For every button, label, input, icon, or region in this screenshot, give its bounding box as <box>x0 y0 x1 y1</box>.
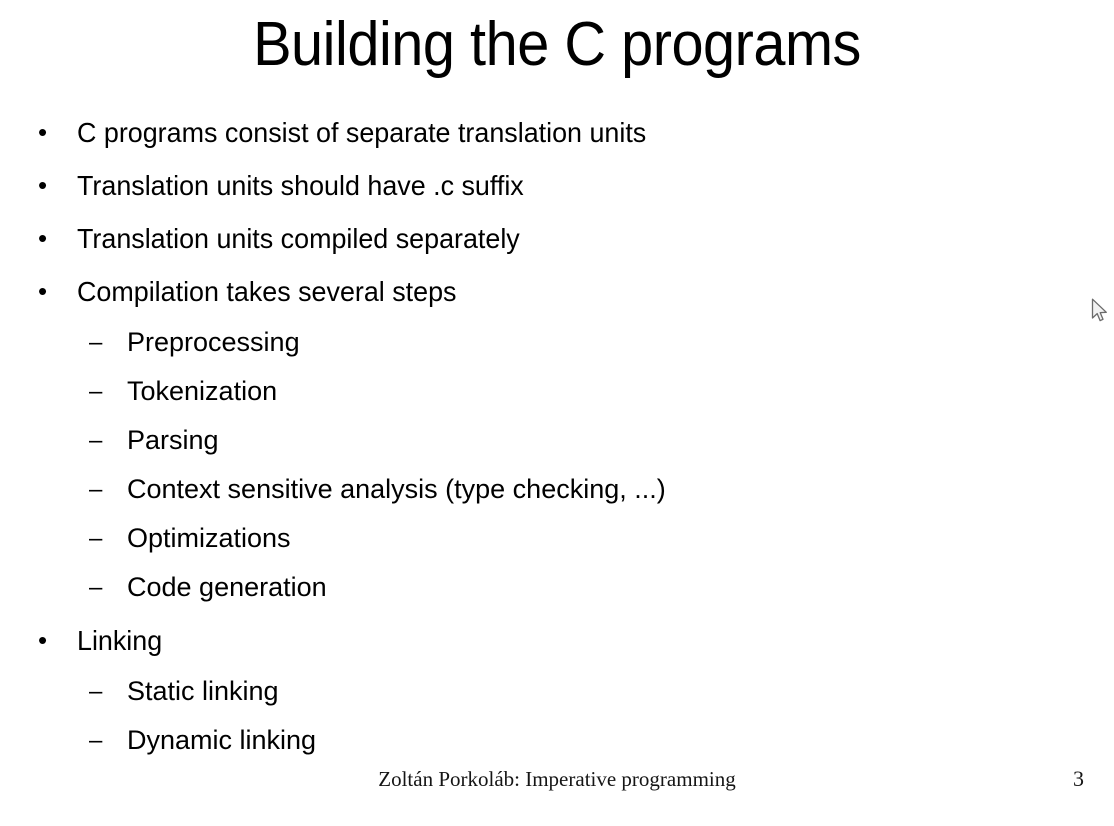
list-item: • Translation units should have .c suffi… <box>0 159 1060 212</box>
slide-title: Building the C programs <box>39 8 1075 82</box>
sub-list-item: – Parsing <box>0 416 1060 465</box>
dash-marker-icon: – <box>89 465 111 514</box>
sub-list-item: – Code generation <box>0 563 1060 612</box>
list-item: • Linking <box>0 614 1060 667</box>
list-item-label: Compilation takes several steps <box>77 265 456 318</box>
mouse-pointer-icon <box>1091 298 1109 324</box>
sub-list-item: – Context sensitive analysis (type check… <box>0 465 1060 514</box>
list-item-label: Translation units compiled separately <box>77 212 520 265</box>
sub-list-item-label: Dynamic linking <box>127 716 316 765</box>
list-item: • Translation units compiled separately <box>0 212 1060 265</box>
sub-list-item: – Optimizations <box>0 514 1060 563</box>
sub-list-item-label: Optimizations <box>127 514 291 563</box>
list-item-label: C programs consist of separate translati… <box>77 106 646 159</box>
list-item-label: Linking <box>77 614 162 667</box>
bullet-marker-icon: • <box>38 159 58 212</box>
bullet-marker-icon: • <box>38 265 58 318</box>
slide-canvas: Building the C programs • C programs con… <box>0 0 1114 826</box>
dash-marker-icon: – <box>89 667 111 716</box>
bullet-marker-icon: • <box>38 212 58 265</box>
sub-list-item-label: Parsing <box>127 416 219 465</box>
sub-list-item-label: Static linking <box>127 667 279 716</box>
sub-list-item-label: Tokenization <box>127 367 277 416</box>
slide-body-list: • C programs consist of separate transla… <box>0 106 1060 765</box>
list-item: • C programs consist of separate transla… <box>0 106 1060 159</box>
sub-list-item: – Preprocessing <box>0 318 1060 367</box>
sub-list-item: – Dynamic linking <box>0 716 1060 765</box>
dash-marker-icon: – <box>89 563 111 612</box>
bullet-marker-icon: • <box>38 106 58 159</box>
sub-list-item-label: Preprocessing <box>127 318 300 367</box>
bullet-marker-icon: • <box>38 614 58 667</box>
dash-marker-icon: – <box>89 514 111 563</box>
sub-list-item: – Tokenization <box>0 367 1060 416</box>
sub-list-item-label: Code generation <box>127 563 327 612</box>
list-item-label: Translation units should have .c suffix <box>77 159 524 212</box>
list-item: • Compilation takes several steps <box>0 265 1060 318</box>
page-number: 3 <box>1073 765 1084 793</box>
dash-marker-icon: – <box>89 367 111 416</box>
sub-list-item: – Static linking <box>0 667 1060 716</box>
dash-marker-icon: – <box>89 318 111 367</box>
dash-marker-icon: – <box>89 716 111 765</box>
dash-marker-icon: – <box>89 416 111 465</box>
slide-footer: Zoltán Porkoláb: Imperative programming <box>0 765 1114 793</box>
sub-list-item-label: Context sensitive analysis (type checkin… <box>127 465 666 514</box>
